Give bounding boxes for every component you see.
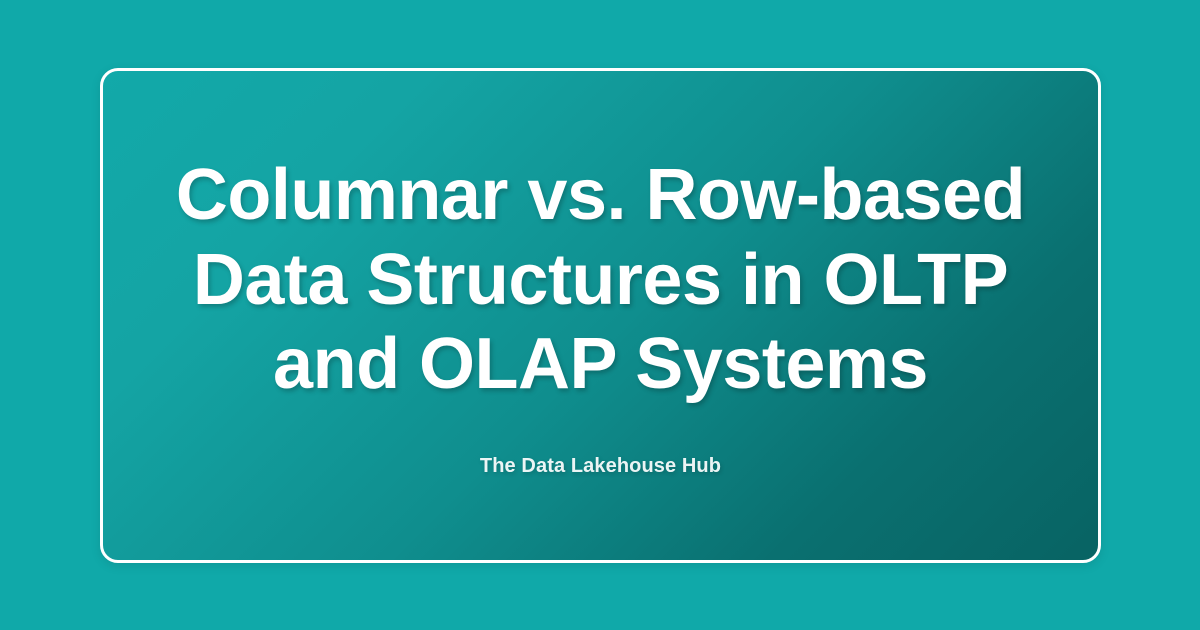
- site-name-subtitle: The Data Lakehouse Hub: [143, 407, 1058, 478]
- hero-card: Columnar vs. Row-based Data Structures i…: [100, 68, 1101, 563]
- hero-card-content: Columnar vs. Row-based Data Structures i…: [143, 153, 1058, 479]
- og-card-canvas: Columnar vs. Row-based Data Structures i…: [0, 0, 1200, 630]
- page-title: Columnar vs. Row-based Data Structures i…: [143, 153, 1058, 408]
